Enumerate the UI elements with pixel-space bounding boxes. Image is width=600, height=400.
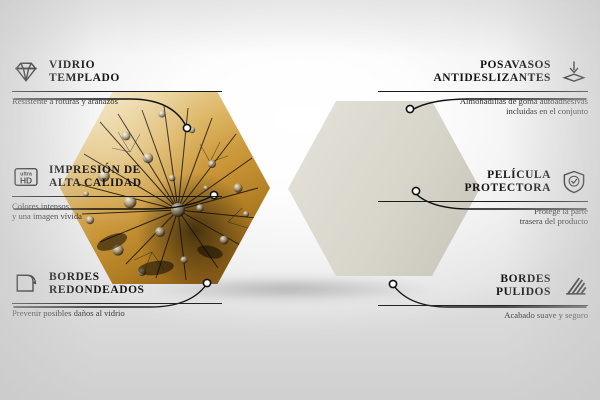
press-pad-icon xyxy=(560,58,588,86)
feature-title: BORDES PULIDOS xyxy=(496,273,551,299)
feature-header: PELÍCULA PROTECTORA xyxy=(378,168,588,196)
diamond-icon xyxy=(12,58,40,86)
feature-impresion-alta-calidad: ultra HD IMPRESIÓN DE ALTA CALIDAD Color… xyxy=(12,163,222,222)
svg-text:HD: HD xyxy=(20,175,32,185)
feature-divider xyxy=(378,91,588,92)
feature-description: Acabado suave y seguro xyxy=(378,310,588,320)
node-vidrio-templado xyxy=(183,124,190,131)
feature-title: VIDRIO TEMPLADO xyxy=(49,59,120,85)
feature-divider xyxy=(12,91,222,92)
feature-pelicula-protectora: PELÍCULA PROTECTORA Protege la parte tra… xyxy=(378,168,588,227)
feature-title: IMPRESIÓN DE ALTA CALIDAD xyxy=(49,164,142,190)
feature-title: POSAVASOS ANTIDESLIZANTES xyxy=(433,59,551,85)
feature-divider xyxy=(378,305,588,306)
feature-description: Colores intensos y una imagen vívida xyxy=(12,201,222,222)
feature-description: Protege la parte trasera del producto xyxy=(378,206,588,227)
feature-header: BORDES PULIDOS xyxy=(378,272,588,300)
feature-divider xyxy=(12,303,222,304)
feature-bordes-redondeados: BORDES REDONDEADOS Prevenir posibles dañ… xyxy=(12,270,222,318)
feature-description: Resistente a roturas y arañazos xyxy=(12,96,222,106)
feature-divider xyxy=(12,196,222,197)
feature-header: VIDRIO TEMPLADO xyxy=(12,58,222,86)
ultra-hd-icon: ultra HD xyxy=(12,163,40,191)
feature-title: BORDES REDONDEADOS xyxy=(49,271,145,297)
rounded-corner-icon xyxy=(12,270,40,298)
feature-description: Almohadillas de goma autoadhesivas inclu… xyxy=(378,96,588,117)
shield-check-icon xyxy=(560,168,588,196)
feature-bordes-pulidos: BORDES PULIDOS Acabado suave y seguro xyxy=(378,272,588,320)
hatched-triangle-icon xyxy=(560,272,588,300)
feature-vidrio-templado: VIDRIO TEMPLADO Resistente a roturas y a… xyxy=(12,58,222,106)
feature-title: PELÍCULA PROTECTORA xyxy=(465,169,551,195)
infographic-canvas: VIDRIO TEMPLADO Resistente a roturas y a… xyxy=(0,0,600,400)
feature-posavasos-antideslizantes: POSAVASOS ANTIDESLIZANTES Almohadillas d… xyxy=(378,58,588,117)
feature-header: BORDES REDONDEADOS xyxy=(12,270,222,298)
feature-header: POSAVASOS ANTIDESLIZANTES xyxy=(378,58,588,86)
feature-divider xyxy=(378,201,588,202)
feature-description: Prevenir posibles daños al vidrio xyxy=(12,308,222,318)
feature-header: ultra HD IMPRESIÓN DE ALTA CALIDAD xyxy=(12,163,222,191)
